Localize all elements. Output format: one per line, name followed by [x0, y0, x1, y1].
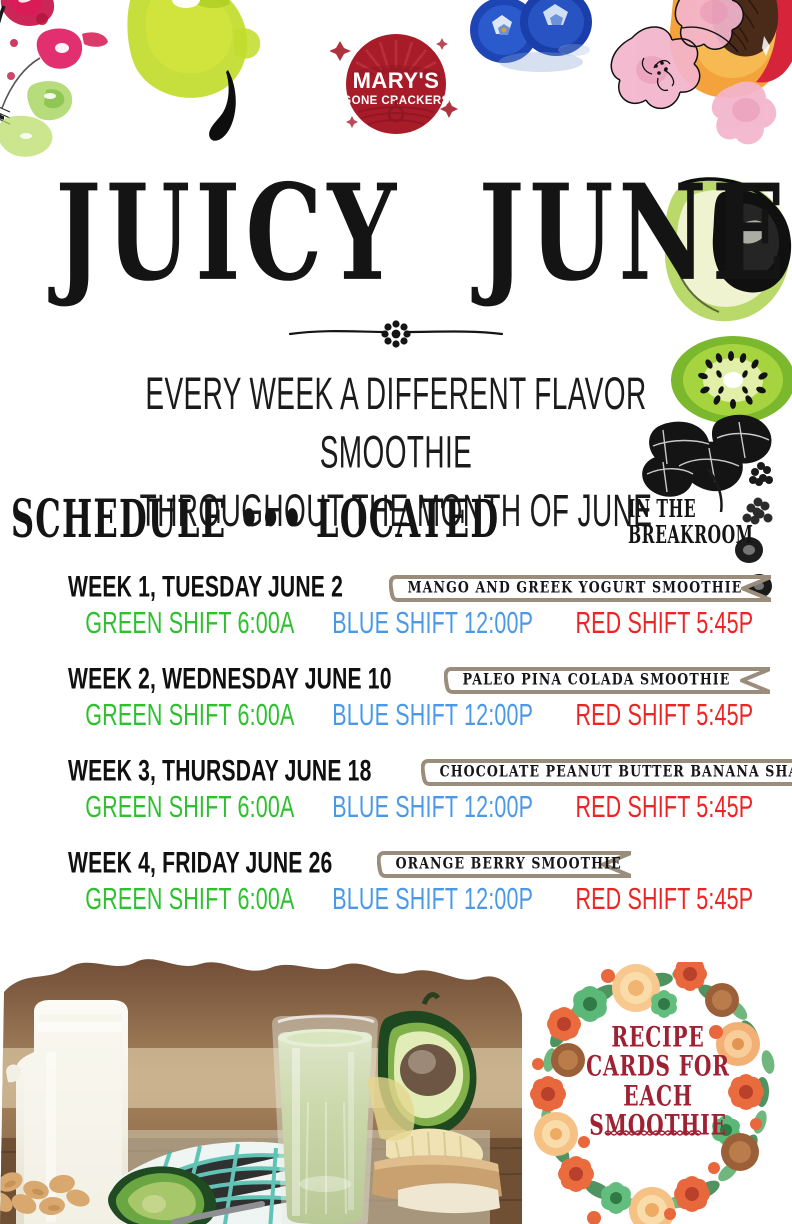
svg-text:MARY'S: MARY'S: [353, 68, 440, 93]
shift-row: GREEN SHIFT 6:00A BLUE SHIFT 12:00P RED …: [68, 609, 768, 638]
watercolor-cherries-icon: [0, 0, 290, 171]
week-block: WEEK 2, WEDNESDAY JUNE 10 PALEO PINA COL…: [68, 664, 768, 730]
shift-row: GREEN SHIFT 6:00A BLUE SHIFT 12:00P RED …: [68, 701, 768, 730]
poster-canvas: MARY'S GONE CRACKERS JUICY JUNE EVERY WE…: [0, 0, 792, 1224]
red-shift: RED SHIFT 5:45P: [576, 606, 754, 642]
green-shift: GREEN SHIFT 6:00A: [85, 606, 297, 642]
red-shift: RED SHIFT 5:45P: [576, 790, 754, 826]
green-shift: GREEN SHIFT 6:00A: [85, 790, 297, 826]
week-block: WEEK 3, THURSDAY JUNE 18 CHOCOLATE PEANU…: [68, 756, 768, 822]
marys-gone-crackers-logo: MARY'S GONE CRACKERS: [330, 28, 462, 148]
smoothie-name: CHOCOLATE PEANUT BUTTER BANANA SHAKE: [421, 763, 792, 782]
week-block: WEEK 4, FRIDAY JUNE 26 ORANGE BERRY SMOO…: [68, 848, 768, 914]
smoothie-ribbon: CHOCOLATE PEANUT BUTTER BANANA SHAKE: [421, 757, 792, 787]
week-heading: WEEK 2, WEDNESDAY JUNE 10: [68, 663, 392, 697]
week-heading: WEEK 4, FRIDAY JUNE 26: [68, 847, 332, 881]
red-shift: RED SHIFT 5:45P: [576, 698, 754, 734]
week-heading: WEEK 1, TUESDAY JUNE 2: [68, 571, 343, 605]
week-header-row: WEEK 1, TUESDAY JUNE 2 MANGO AND GREEK Y…: [68, 572, 768, 604]
smoothie-ribbon: ORANGE BERRY SMOOTHIE: [377, 849, 631, 879]
flower-rule-divider-icon: [286, 316, 506, 350]
watercolor-blueberries-peach-icon: [446, 0, 792, 180]
blue-shift: BLUE SHIFT 12:00P: [332, 698, 544, 734]
blue-shift: BLUE SHIFT 12:00P: [332, 882, 544, 918]
week-header-row: WEEK 2, WEDNESDAY JUNE 10 PALEO PINA COL…: [68, 664, 768, 696]
smoothie-ribbon: MANGO AND GREEK YOGURT SMOOTHIE: [389, 573, 769, 603]
svg-text:GONE CRACKERS: GONE CRACKERS: [342, 95, 449, 107]
blue-shift: BLUE SHIFT 12:00P: [332, 790, 544, 826]
schedule-heading: SCHEDULE ••• LOCATED IN THE BREAKROOM: [0, 494, 792, 536]
smoothie-ribbon: PALEO PINA COLADA SMOOTHIE: [444, 665, 768, 695]
schedule-location-label: IN THE BREAKROOM: [628, 496, 753, 548]
red-shift: RED SHIFT 5:45P: [576, 882, 754, 918]
page-title-wrapper: JUICY JUNE: [0, 168, 792, 280]
page-title: JUICY JUNE: [55, 168, 736, 300]
schedule-heading-main: SCHEDULE ••• LOCATED: [11, 494, 499, 546]
green-shift: GREEN SHIFT 6:00A: [85, 698, 297, 734]
smoothie-name: PALEO PINA COLADA SMOOTHIE: [444, 671, 730, 690]
week-heading: WEEK 3, THURSDAY JUNE 18: [68, 755, 372, 789]
week-header-row: WEEK 3, THURSDAY JUNE 18 CHOCOLATE PEANU…: [68, 756, 768, 788]
blue-shift: BLUE SHIFT 12:00P: [332, 606, 544, 642]
week-header-row: WEEK 4, FRIDAY JUNE 26 ORANGE BERRY SMOO…: [68, 848, 768, 880]
shift-row: GREEN SHIFT 6:00A BLUE SHIFT 12:00P RED …: [68, 885, 768, 914]
recipe-cards-badge-text: RECIPE CARDS FOR EACH SMOOTHIE: [576, 1022, 741, 1140]
shift-row: GREEN SHIFT 6:00A BLUE SHIFT 12:00P RED …: [68, 793, 768, 822]
green-shift: GREEN SHIFT 6:00A: [85, 882, 297, 918]
smoothie-name: ORANGE BERRY SMOOTHIE: [377, 855, 622, 874]
avocado-smoothie-photo: [0, 952, 530, 1224]
schedule-list: WEEK 1, TUESDAY JUNE 2 MANGO AND GREEK Y…: [68, 572, 768, 940]
week-block: WEEK 1, TUESDAY JUNE 2 MANGO AND GREEK Y…: [68, 572, 768, 638]
smoothie-name: MANGO AND GREEK YOGURT SMOOTHIE: [389, 579, 742, 598]
